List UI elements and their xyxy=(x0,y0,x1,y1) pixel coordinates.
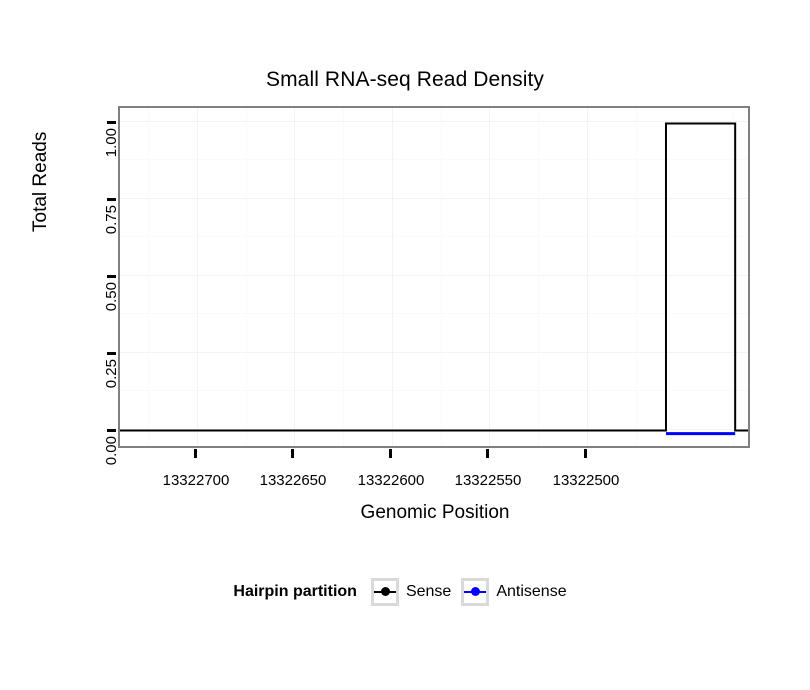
x-tick-1 xyxy=(291,449,294,458)
y-tick-3 xyxy=(107,198,116,201)
chart-container: Small RNA-seq Read Density Total Reads 0… xyxy=(0,0,810,690)
x-axis-title: Genomic Position xyxy=(118,502,752,524)
x-tick-0 xyxy=(194,449,197,458)
legend: Hairpin partition Sense Antisense xyxy=(0,578,810,606)
legend-point-antisense xyxy=(471,587,480,596)
legend-entry-antisense[interactable]: Antisense xyxy=(461,578,566,606)
x-tick-2 xyxy=(389,449,392,458)
y-tick-4 xyxy=(107,121,116,124)
plot-panel xyxy=(118,106,750,448)
y-tick-2 xyxy=(107,275,116,278)
y-axis-title: Total Reads xyxy=(30,132,52,232)
legend-label-sense: Sense xyxy=(406,583,451,601)
legend-key-antisense xyxy=(461,578,489,606)
legend-title: Hairpin partition xyxy=(233,583,357,601)
legend-label-antisense: Antisense xyxy=(496,583,566,601)
x-tick-4 xyxy=(584,449,587,458)
legend-entry-sense[interactable]: Sense xyxy=(371,578,451,606)
x-tick-label-4: 13322500 xyxy=(526,472,646,489)
chart-title: Small RNA-seq Read Density xyxy=(0,68,810,92)
legend-point-sense xyxy=(381,587,390,596)
legend-key-sense xyxy=(371,578,399,606)
series-layer xyxy=(120,108,748,446)
y-tick-0 xyxy=(107,429,116,432)
x-tick-3 xyxy=(486,449,489,458)
y-tick-1 xyxy=(107,352,116,355)
series-line-sense xyxy=(120,124,748,431)
